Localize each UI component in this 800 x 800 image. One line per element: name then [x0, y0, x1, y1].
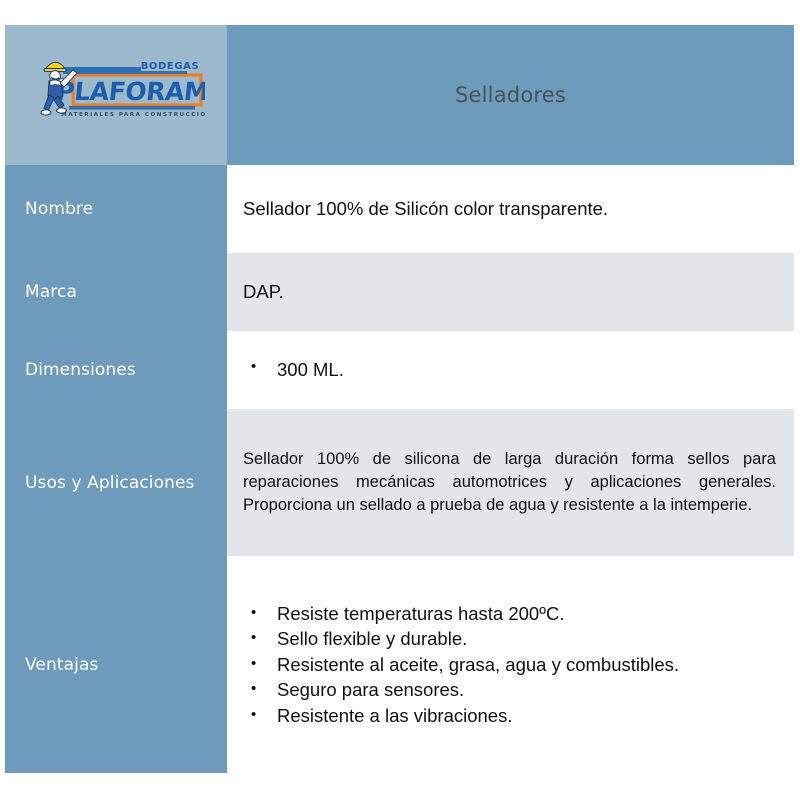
- row-value-ventajas: Resiste temperaturas hasta 200ºC. Sello …: [227, 556, 794, 773]
- table-row: Dimensiones 300 ML.: [5, 331, 794, 409]
- svg-text:BODEGAS: BODEGAS: [141, 61, 200, 72]
- table-row: Nombre Sellador 100% de Silicón color tr…: [5, 165, 794, 253]
- list-item: Seguro para sensores.: [243, 677, 780, 703]
- svg-text:PLAFORAMA: PLAFORAMA: [55, 77, 205, 106]
- list-item: Resistente a las vibraciones.: [243, 703, 780, 729]
- ventajas-list: Resiste temperaturas hasta 200ºC. Sello …: [243, 601, 780, 729]
- page-title: Selladores: [455, 83, 566, 107]
- table-row: Ventajas Resiste temperaturas hasta 200º…: [5, 556, 794, 773]
- row-label-nombre: Nombre: [5, 165, 227, 253]
- plaforama-logo: BODEGAS PLAFORAMA MATERIALES PARA CONSTR…: [33, 53, 205, 129]
- brand-logo-cell: BODEGAS PLAFORAMA MATERIALES PARA CONSTR…: [5, 25, 227, 165]
- table-row: Usos y Aplicaciones Sellador 100% de sil…: [5, 409, 794, 556]
- row-label-dimensiones: Dimensiones: [5, 331, 227, 409]
- table-row: Marca DAP.: [5, 253, 794, 331]
- product-spec-sheet: BODEGAS PLAFORAMA MATERIALES PARA CONSTR…: [5, 25, 794, 773]
- header-title-cell: Selladores: [227, 25, 794, 165]
- spec-table: BODEGAS PLAFORAMA MATERIALES PARA CONSTR…: [5, 25, 794, 773]
- list-item: Resiste temperaturas hasta 200ºC.: [243, 601, 780, 627]
- list-item: Sello flexible y durable.: [243, 626, 780, 652]
- row-label-usos: Usos y Aplicaciones: [5, 409, 227, 556]
- table-header-row: BODEGAS PLAFORAMA MATERIALES PARA CONSTR…: [5, 25, 794, 165]
- usos-paragraph: Sellador 100% de silicona de larga durac…: [243, 448, 780, 517]
- row-value-dimensiones: 300 ML.: [227, 331, 794, 409]
- row-value-nombre: Sellador 100% de Silicón color transpare…: [227, 165, 794, 253]
- row-label-marca: Marca: [5, 253, 227, 331]
- list-item: Resistente al aceite, grasa, agua y comb…: [243, 652, 780, 678]
- list-item: 300 ML.: [243, 359, 780, 381]
- row-value-usos: Sellador 100% de silicona de larga durac…: [227, 409, 794, 556]
- svg-text:MATERIALES PARA CONSTRUCCION: MATERIALES PARA CONSTRUCCION: [61, 112, 205, 118]
- row-label-ventajas: Ventajas: [5, 556, 227, 773]
- row-value-marca: DAP.: [227, 253, 794, 331]
